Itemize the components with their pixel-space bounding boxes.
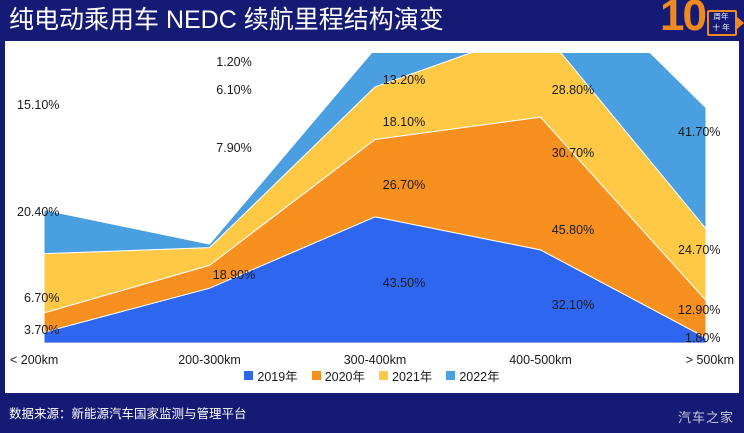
data-label: 6.10%	[216, 83, 251, 97]
x-axis-label-1: 200-300km	[178, 353, 241, 367]
data-label: 32.10%	[552, 298, 594, 312]
legend-swatch-icon	[244, 371, 253, 380]
data-label: 26.70%	[383, 178, 425, 192]
data-label: 45.80%	[552, 223, 594, 237]
anniversary-logo: 10 周年 十 年	[660, 0, 740, 43]
legend-item-2022年[interactable]: 2022年	[446, 366, 499, 385]
page-title: 纯电动乘用车 NEDC 续航里程结构演变	[9, 3, 444, 37]
data-label: 6.70%	[24, 291, 59, 305]
data-label: 41.70%	[678, 125, 720, 139]
logo-arrow-icon	[736, 16, 744, 30]
legend-item-2021年[interactable]: 2021年	[379, 366, 432, 385]
x-axis-label-3: 400-500km	[509, 353, 572, 367]
x-axis-label-2: 300-400km	[344, 353, 407, 367]
chart-legend: 2019年2020年2021年2022年	[5, 366, 739, 385]
legend-label: 2019年	[257, 366, 297, 385]
stacked-area-chart: 15.10%20.40%6.70%3.70%1.20%6.10%7.90%18.…	[5, 41, 739, 393]
legend-label: 2020年	[325, 366, 365, 385]
legend-label: 2022年	[459, 366, 499, 385]
data-label: 43.50%	[383, 276, 425, 290]
data-label: 20.40%	[17, 205, 59, 219]
chart-infographic: 纯电动乘用车 NEDC 续航里程结构演变 10 周年 十 年 15.10%20.…	[0, 0, 744, 433]
data-label: 12.90%	[678, 303, 720, 317]
data-label: 1.80%	[685, 331, 720, 345]
data-label: 1.20%	[216, 55, 251, 69]
x-axis-label-0: < 200km	[10, 353, 58, 367]
legend-swatch-icon	[312, 371, 321, 380]
legend-item-2019年[interactable]: 2019年	[244, 366, 297, 385]
data-label: 24.70%	[678, 243, 720, 257]
data-label: 18.10%	[383, 115, 425, 129]
logo-badge: 周年 十 年	[707, 10, 737, 36]
header-bar: 纯电动乘用车 NEDC 续航里程结构演变 10 周年 十 年	[0, 0, 744, 41]
chart-card: 15.10%20.40%6.70%3.70%1.20%6.10%7.90%18.…	[5, 41, 739, 393]
legend-swatch-icon	[379, 371, 388, 380]
data-label: 13.20%	[383, 73, 425, 87]
data-label: 18.90%	[213, 268, 255, 282]
logo-number: 10	[660, 0, 705, 38]
legend-item-2020年[interactable]: 2020年	[312, 366, 365, 385]
legend-swatch-icon	[446, 371, 455, 380]
source-text: 数据来源：新能源汽车国家监测与管理平台	[9, 403, 247, 422]
footer-bar: 数据来源：新能源汽车国家监测与管理平台 汽车之家	[0, 393, 744, 433]
x-axis-label-4: > 500km	[686, 353, 734, 367]
data-label: 15.10%	[17, 98, 59, 112]
logo-badge-line1: 周年	[710, 12, 732, 21]
chart-plot	[44, 53, 706, 343]
data-label: 7.90%	[216, 141, 251, 155]
legend-label: 2021年	[392, 366, 432, 385]
data-label: 30.70%	[552, 146, 594, 160]
data-label: 28.80%	[552, 83, 594, 97]
logo-badge-line2: 十 年	[710, 23, 732, 32]
watermark-text: 汽车之家	[678, 407, 734, 426]
data-label: 3.70%	[24, 323, 59, 337]
